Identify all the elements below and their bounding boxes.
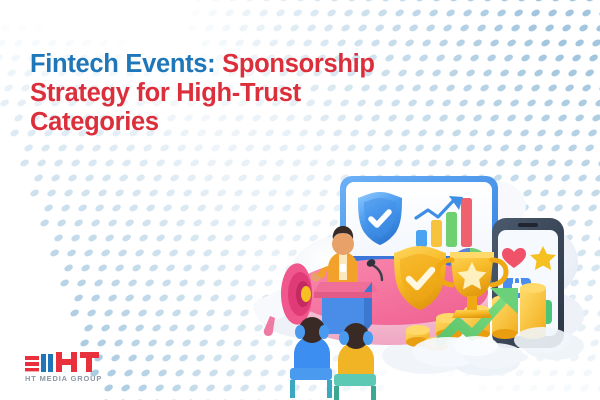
background-dot: [595, 23, 600, 32]
background-dot: [391, 23, 402, 32]
background-dot: [179, 203, 190, 212]
background-dot: [510, 23, 521, 32]
background-dot: [49, 248, 60, 257]
background-dot: [425, 23, 436, 32]
background-dot: [587, 128, 598, 137]
background-dot: [226, 293, 237, 302]
background-dot: [171, 308, 182, 317]
audience-member-1: [290, 317, 332, 398]
background-dot: [87, 158, 98, 167]
background-dot: [0, 38, 7, 47]
background-dot: [114, 188, 125, 197]
background-dot: [527, 23, 538, 32]
background-dot: [570, 128, 581, 137]
background-dot: [289, 23, 300, 32]
background-dot: [196, 203, 207, 212]
background-dot: [199, 263, 210, 272]
background-dot: [171, 383, 182, 392]
background-dot: [176, 143, 187, 152]
background-dot: [561, 23, 572, 32]
background-dot: [578, 23, 589, 32]
background-dot: [219, 323, 230, 332]
background-dot: [174, 368, 185, 377]
logo-ht-media-group[interactable]: HT MEDIA GROUP: [25, 352, 102, 383]
background-dot: [168, 248, 179, 257]
background-dot: [347, 0, 358, 2]
title-segment-blue: Fintech Events:: [30, 50, 215, 78]
background-dot: [553, 128, 564, 137]
background-dot: [39, 218, 50, 227]
background-dot: [101, 173, 112, 182]
background-dot: [0, 53, 3, 62]
background-dot: [164, 338, 175, 347]
background-dot: [428, 8, 439, 17]
background-dot: [224, 8, 235, 17]
background-dot: [228, 0, 239, 2]
background-dot: [452, 53, 463, 62]
background-dot: [432, 0, 443, 2]
background-dot: [544, 23, 555, 32]
background-dot: [73, 293, 84, 302]
background-dot: [441, 98, 452, 107]
background-dot: [275, 8, 286, 17]
background-dot: [165, 188, 176, 197]
background-dot: [499, 68, 510, 77]
background-dot: [199, 188, 210, 197]
background-dot: [96, 338, 107, 347]
background-dot: [330, 0, 341, 2]
background-dot: [70, 233, 81, 242]
background-dot: [581, 8, 592, 17]
background-dot: [178, 353, 189, 362]
background-dot: [262, 0, 273, 2]
background-dot: [431, 68, 442, 77]
background-dot: [123, 368, 134, 377]
background-dot: [241, 8, 252, 17]
background-dot: [138, 233, 149, 242]
background-dot: [404, 38, 415, 47]
background-dot: [513, 83, 524, 92]
background-dot: [223, 158, 234, 167]
background-dot: [574, 38, 585, 47]
background-dot: [195, 278, 206, 287]
background-dot: [97, 188, 108, 197]
background-dot: [144, 353, 155, 362]
background-dot: [209, 218, 220, 227]
background-dot: [357, 23, 368, 32]
background-dot: [591, 38, 600, 47]
background-dot: [421, 38, 432, 47]
background-dot: [215, 338, 226, 347]
background-dot: [205, 308, 216, 317]
background-dot: [326, 8, 337, 17]
background-dot: [141, 293, 152, 302]
background-dot: [148, 263, 159, 272]
background-dot: [17, 23, 28, 32]
background-dot: [513, 8, 524, 17]
background-dot: [190, 8, 201, 17]
background-dot: [479, 83, 490, 92]
background-dot: [107, 293, 118, 302]
background-dot: [137, 383, 148, 392]
background-dot: [475, 98, 486, 107]
background-dot: [145, 203, 156, 212]
background-dot: [222, 383, 233, 392]
background-dot: [211, 0, 222, 2]
background-dot: [438, 38, 449, 47]
background-dot: [10, 53, 21, 62]
background-dot: [212, 278, 223, 287]
background-dot: [547, 8, 558, 17]
background-dot: [192, 293, 203, 302]
background-dot: [353, 38, 364, 47]
background-dot: [519, 128, 530, 137]
background-dot: [16, 98, 27, 107]
background-dot: [33, 173, 44, 182]
background-dot: [486, 53, 497, 62]
audience-member-2: [334, 323, 376, 400]
background-dot: [343, 8, 354, 17]
background-dot: [104, 158, 115, 167]
background-dot: [86, 308, 97, 317]
background-dot: [103, 383, 114, 392]
background-dot: [227, 143, 238, 152]
background-dot: [70, 158, 81, 167]
background-dot: [194, 0, 205, 2]
background-dot: [398, 0, 409, 2]
background-dot: [212, 353, 223, 362]
background-dot: [229, 353, 240, 362]
background-dot: [135, 173, 146, 182]
background-dot: [540, 113, 551, 122]
background-dot: [520, 53, 531, 62]
background-dot: [3, 83, 14, 92]
background-dot: [313, 0, 324, 2]
background-dot: [459, 23, 470, 32]
background-dot: [125, 143, 136, 152]
background-dot: [76, 278, 87, 287]
background-dot: [581, 83, 592, 92]
background-dot: [205, 383, 216, 392]
background-dot: [206, 233, 217, 242]
background-dot: [202, 323, 213, 332]
background-dot: [588, 53, 599, 62]
background-dot: [90, 218, 101, 227]
background-dot: [483, 0, 494, 2]
background-dot: [128, 203, 139, 212]
background-dot: [210, 143, 221, 152]
background-dot: [161, 278, 172, 287]
background-dot: [191, 368, 202, 377]
background-dot: [220, 173, 231, 182]
background-dot: [93, 278, 104, 287]
background-dot: [20, 83, 31, 92]
background-dot: [309, 8, 320, 17]
background-dot: [84, 173, 95, 182]
background-dot: [186, 173, 197, 182]
background-dot: [557, 113, 568, 122]
background-dot: [40, 143, 51, 152]
background-dot: [103, 308, 114, 317]
background-dot: [124, 293, 135, 302]
background-dot: [438, 113, 449, 122]
page-title: Fintech Events: Sponsorship Strategy for…: [30, 50, 430, 137]
background-dot: [506, 38, 517, 47]
background-dot: [411, 8, 422, 17]
background-dot: [0, 23, 10, 32]
background-dot: [154, 383, 165, 392]
background-dot: [110, 353, 121, 362]
background-dot: [469, 53, 480, 62]
background-dot: [550, 68, 561, 77]
background-dot: [216, 188, 227, 197]
background-dot: [200, 38, 211, 47]
background-dot: [185, 323, 196, 332]
background-dot: [479, 8, 490, 17]
background-dot: [118, 173, 129, 182]
background-dot: [448, 68, 459, 77]
background-dot: [59, 278, 70, 287]
background-dot: [120, 308, 131, 317]
background-dot: [98, 38, 109, 47]
background-dot: [408, 23, 419, 32]
background-dot: [188, 308, 199, 317]
background-dot: [585, 0, 596, 2]
background-dot: [285, 38, 296, 47]
background-dot: [137, 308, 148, 317]
background-dot: [442, 23, 453, 32]
background-dot: [516, 68, 527, 77]
background-dot: [381, 0, 392, 2]
background-dot: [571, 53, 582, 62]
background-dot: [131, 263, 142, 272]
background-dot: [445, 8, 456, 17]
background-dot: [117, 248, 128, 257]
background-dot: [374, 23, 385, 32]
background-dot: [83, 323, 94, 332]
background-dot: [523, 38, 534, 47]
background-dot: [43, 203, 54, 212]
background-dot: [468, 128, 479, 137]
background-dot: [158, 218, 169, 227]
background-dot: [29, 188, 40, 197]
background-dot: [134, 248, 145, 257]
background-dot: [66, 248, 77, 257]
background-dot: [377, 8, 388, 17]
background-dot: [57, 143, 68, 152]
background-dot: [34, 23, 45, 32]
background-dot: [138, 158, 149, 167]
background-dot: [0, 98, 10, 107]
background-dot: [458, 98, 469, 107]
background-dot: [60, 203, 71, 212]
background-dot: [564, 8, 575, 17]
background-dot: [502, 128, 513, 137]
background-dot: [496, 8, 507, 17]
background-dot: [134, 323, 145, 332]
background-dot: [533, 68, 544, 77]
background-dot: [140, 368, 151, 377]
background-dot: [178, 278, 189, 287]
background-dot: [69, 308, 80, 317]
background-dot: [496, 83, 507, 92]
background-dot: [175, 293, 186, 302]
background-dot: [489, 113, 500, 122]
background-dot: [13, 113, 24, 122]
background-dot: [455, 38, 466, 47]
background-dot: [110, 278, 121, 287]
background-dot: [87, 233, 98, 242]
background-dot: [340, 23, 351, 32]
background-dot: [537, 53, 548, 62]
background-dot: [198, 338, 209, 347]
background-dot: [466, 0, 477, 2]
background-dot: [64, 38, 75, 47]
background-dot: [216, 263, 227, 272]
background-dot: [182, 263, 193, 272]
background-dot: [148, 188, 159, 197]
background-dot: [451, 128, 462, 137]
background-dot: [206, 158, 217, 167]
background-dot: [506, 113, 517, 122]
background-dot: [500, 0, 511, 2]
background-dot: [47, 38, 58, 47]
background-dot: [251, 38, 262, 47]
background-dot: [465, 68, 476, 77]
background-dot: [147, 338, 158, 347]
background-dot: [213, 203, 224, 212]
background-dot: [209, 293, 220, 302]
background-dot: [503, 53, 514, 62]
background-dot: [489, 38, 500, 47]
background-dot: [268, 38, 279, 47]
background-dot: [449, 0, 460, 2]
background-dot: [115, 38, 126, 47]
background-dot: [223, 158, 234, 167]
background-dot: [208, 368, 219, 377]
illustration-fintech-event-sponsorship: [240, 140, 600, 400]
background-dot: [36, 158, 47, 167]
background-dot: [415, 0, 426, 2]
background-dot: [83, 248, 94, 257]
background-dot: [168, 323, 179, 332]
background-dot: [364, 0, 375, 2]
background-dot: [394, 8, 405, 17]
background-dot: [144, 278, 155, 287]
background-dot: [77, 203, 88, 212]
background-dot: [202, 248, 213, 257]
background-dot: [131, 188, 142, 197]
background-dot: [567, 68, 578, 77]
background-dot: [113, 338, 124, 347]
background-dot: [279, 0, 290, 2]
background-dot: [189, 158, 200, 167]
background-dot: [187, 23, 198, 32]
background-dot: [30, 38, 41, 47]
background-dot: [547, 83, 558, 92]
background-dot: [111, 203, 122, 212]
background-dot: [121, 158, 132, 167]
background-dot: [509, 98, 520, 107]
background-dot: [79, 338, 90, 347]
background-dot: [476, 23, 487, 32]
background-dot: [127, 278, 138, 287]
background-dot: [245, 0, 256, 2]
background-dot: [188, 383, 199, 392]
background-dot: [577, 98, 588, 107]
background-dot: [319, 38, 330, 47]
background-dot: [568, 0, 579, 2]
background-dot: [462, 83, 473, 92]
background-dot: [94, 203, 105, 212]
background-dot: [154, 308, 165, 317]
background-dot: [19, 158, 30, 167]
background-dot: [225, 368, 236, 377]
background-dot: [100, 248, 111, 257]
background-dot: [574, 113, 585, 122]
background-dot: [492, 98, 503, 107]
background-dot: [73, 218, 84, 227]
background-dot: [207, 8, 218, 17]
background-dot: [63, 188, 74, 197]
background-dot: [557, 38, 568, 47]
background-dot: [222, 308, 233, 317]
background-dot: [155, 158, 166, 167]
background-dot: [217, 38, 228, 47]
background-dot: [560, 98, 571, 107]
background-dot: [482, 68, 493, 77]
background-dot: [165, 263, 176, 272]
background-dot: [9, 128, 20, 137]
background-dot: [159, 143, 170, 152]
background-dot: [107, 218, 118, 227]
logo-text: HT MEDIA GROUP: [25, 374, 102, 383]
background-dot: [155, 233, 166, 242]
background-dot: [53, 233, 64, 242]
background-dot: [23, 143, 34, 152]
background-dot: [13, 38, 24, 47]
background-dot: [172, 233, 183, 242]
background-dot: [162, 203, 173, 212]
background-dot: [181, 338, 192, 347]
background-dot: [195, 353, 206, 362]
background-dot: [445, 83, 456, 92]
background-dot: [90, 293, 101, 302]
background-dot: [74, 143, 85, 152]
background-dot: [554, 53, 565, 62]
banner-root: Fintech Events: Sponsorship Strategy for…: [0, 0, 600, 400]
background-dot: [127, 353, 138, 362]
background-dot: [114, 263, 125, 272]
background-dot: [189, 233, 200, 242]
background-dot: [485, 128, 496, 137]
background-dot: [530, 8, 541, 17]
background-dot: [551, 0, 562, 2]
background-dot: [472, 38, 483, 47]
background-dot: [104, 233, 115, 242]
background-dot: [203, 173, 214, 182]
background-dot: [540, 38, 551, 47]
background-dot: [117, 323, 128, 332]
background-dot: [152, 173, 163, 182]
background-dot: [80, 188, 91, 197]
background-dot: [455, 113, 466, 122]
background-dot: [255, 23, 266, 32]
background-dot: [360, 8, 371, 17]
background-dot: [80, 263, 91, 272]
title-block: Fintech Events: Sponsorship Strategy for…: [30, 50, 430, 137]
background-dot: [204, 23, 215, 32]
